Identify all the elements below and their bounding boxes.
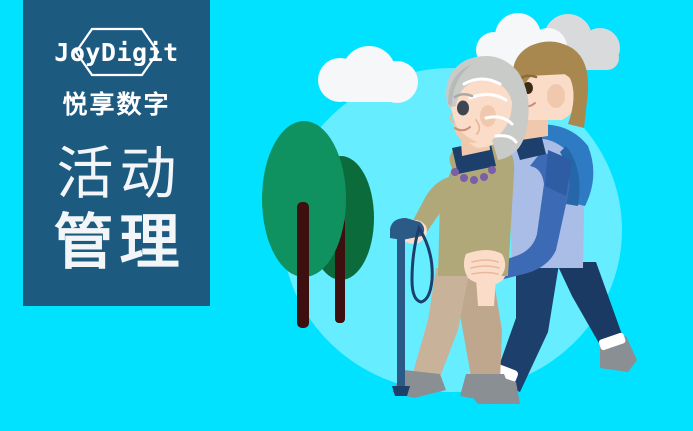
brand-logo: JoyDigit 悦享数字 (23, 26, 210, 121)
info-panel: JoyDigit 悦享数字 活动 管理 (23, 0, 210, 306)
page-title-line-1: 活动 (51, 143, 183, 206)
elderly-woman-eye (457, 101, 469, 116)
logo-mark: JoyDigit (42, 26, 192, 78)
logo-wordmark: JoyDigit (42, 26, 192, 78)
logo-chinese-name: 悦享数字 (62, 85, 170, 121)
cane-shaft (397, 236, 405, 388)
cane-tip (392, 386, 410, 396)
page-title-line-2: 管理 (48, 210, 186, 276)
page-title: 活动 管理 (23, 143, 210, 276)
activity-management-banner: JoyDigit 悦享数字 活动 管理 (0, 0, 693, 431)
